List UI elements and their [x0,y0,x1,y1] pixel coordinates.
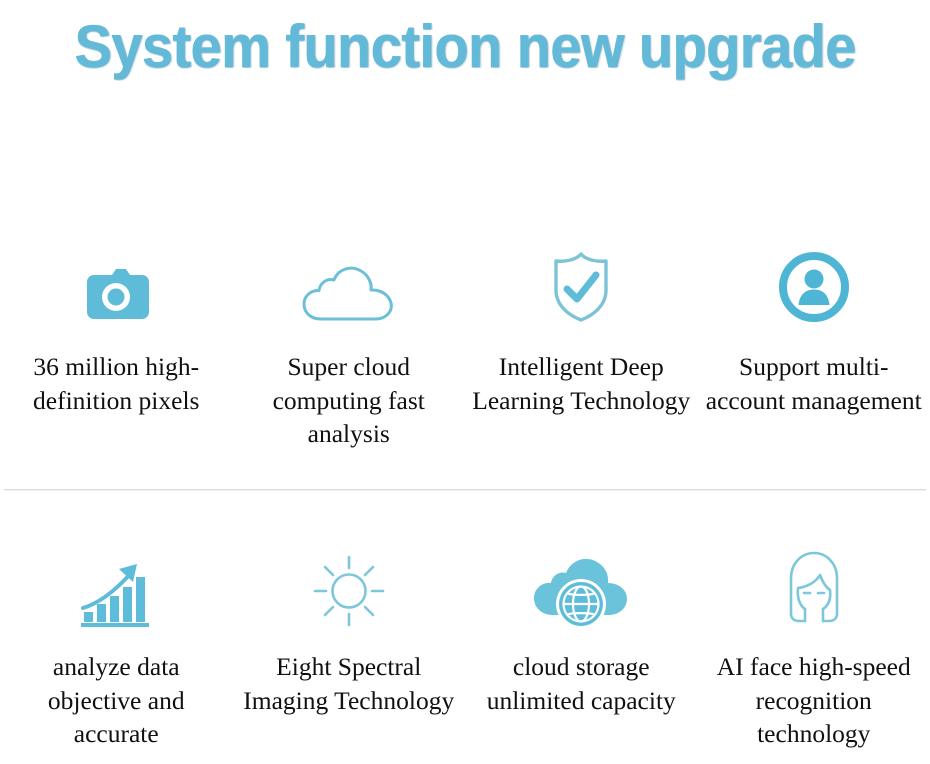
feature-caption: Intelligent Deep Learning Technology [471,350,691,417]
feature-caption: cloud storage unlimited capacity [471,650,691,717]
camera-icon [82,240,150,324]
shield-check-icon [550,240,612,324]
sun-icon [312,542,386,628]
cloud-outline-icon [301,240,397,324]
bar-chart-growth-icon [78,542,154,628]
feature-item-camera: 36 million high-definition pixels [0,90,233,489]
feature-caption: analyze data objective and accurate [6,650,226,751]
feature-item-face-recognition: AI face high-speed recognition technolog… [698,489,930,764]
face-recognition-icon [782,542,846,628]
feature-caption: 36 million high-definition pixels [6,350,226,417]
feature-item-analytics: analyze data objective and accurate [0,489,233,764]
title-band: System function new upgrade [0,0,930,90]
feature-caption: Super cloud computing fast analysis [239,350,459,451]
page-title: System function new upgrade [74,17,855,77]
feature-caption: Eight Spectral Imaging Technology [239,650,459,717]
feature-caption: AI face high-speed recognition technolog… [704,650,924,751]
feature-row-bottom: analyze data objective and accurate [0,489,930,764]
feature-item-spectral: Eight Spectral Imaging Technology [233,489,466,764]
feature-item-multi-account: Support multi-account management [698,90,930,489]
section-divider [4,489,926,491]
feature-item-shield: Intelligent Deep Learning Technology [465,90,698,489]
feature-caption: Support multi-account management [704,350,924,417]
feature-grid: 36 million high-definition pixels Super … [0,90,930,764]
cloud-globe-icon [531,542,631,628]
feature-item-cloud: Super cloud computing fast analysis [233,90,466,489]
feature-row-top: 36 million high-definition pixels Super … [0,90,930,489]
feature-item-cloud-storage: cloud storage unlimited capacity [465,489,698,764]
user-circle-icon [777,240,851,324]
